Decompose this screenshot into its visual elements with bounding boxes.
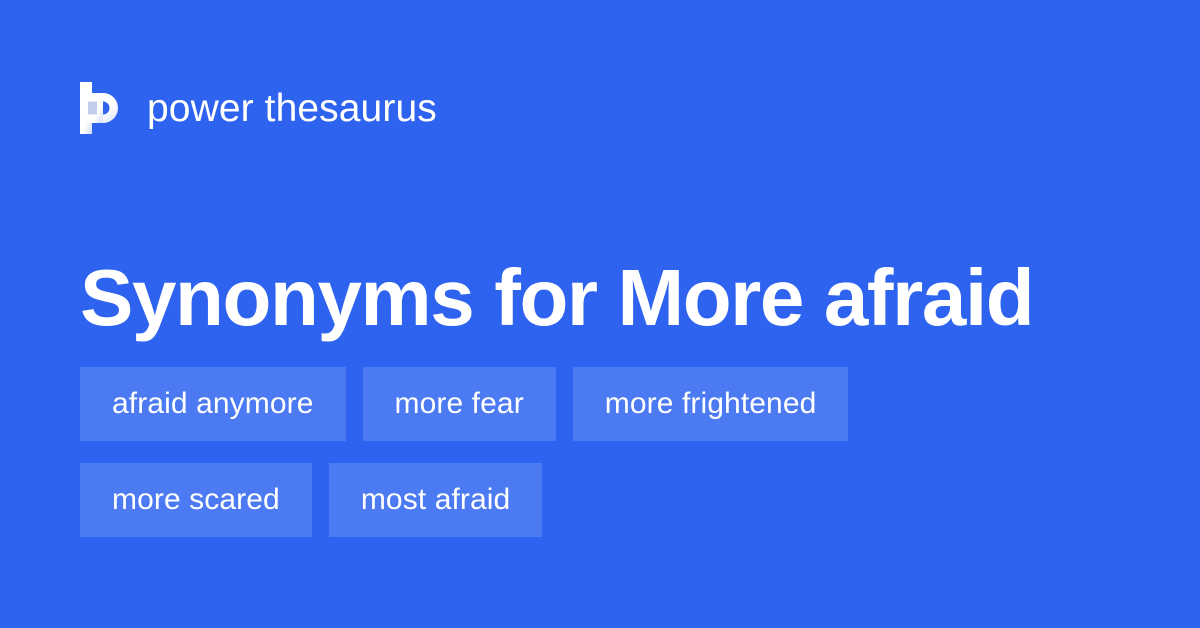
synonym-chip[interactable]: most afraid: [329, 463, 543, 537]
synonym-chip[interactable]: more fear: [363, 367, 556, 441]
synonym-chip[interactable]: more scared: [80, 463, 312, 537]
page-title: Synonyms for More afraid: [80, 250, 1140, 346]
page-root: power thesaurus Synonyms for More afraid…: [0, 0, 1200, 628]
synonym-chip[interactable]: afraid anymore: [80, 367, 346, 441]
synonym-chip-row: afraid anymore more fear more frightened: [80, 367, 1140, 441]
synonym-chip[interactable]: more frightened: [573, 367, 849, 441]
synonym-chip-row: more scared most afraid: [80, 463, 1140, 537]
brand-name: power thesaurus: [147, 89, 437, 128]
power-thesaurus-b-logo-icon: [80, 82, 126, 134]
brand-lockup[interactable]: power thesaurus: [80, 82, 437, 134]
synonym-chip-list: afraid anymore more fear more frightened…: [80, 367, 1140, 537]
